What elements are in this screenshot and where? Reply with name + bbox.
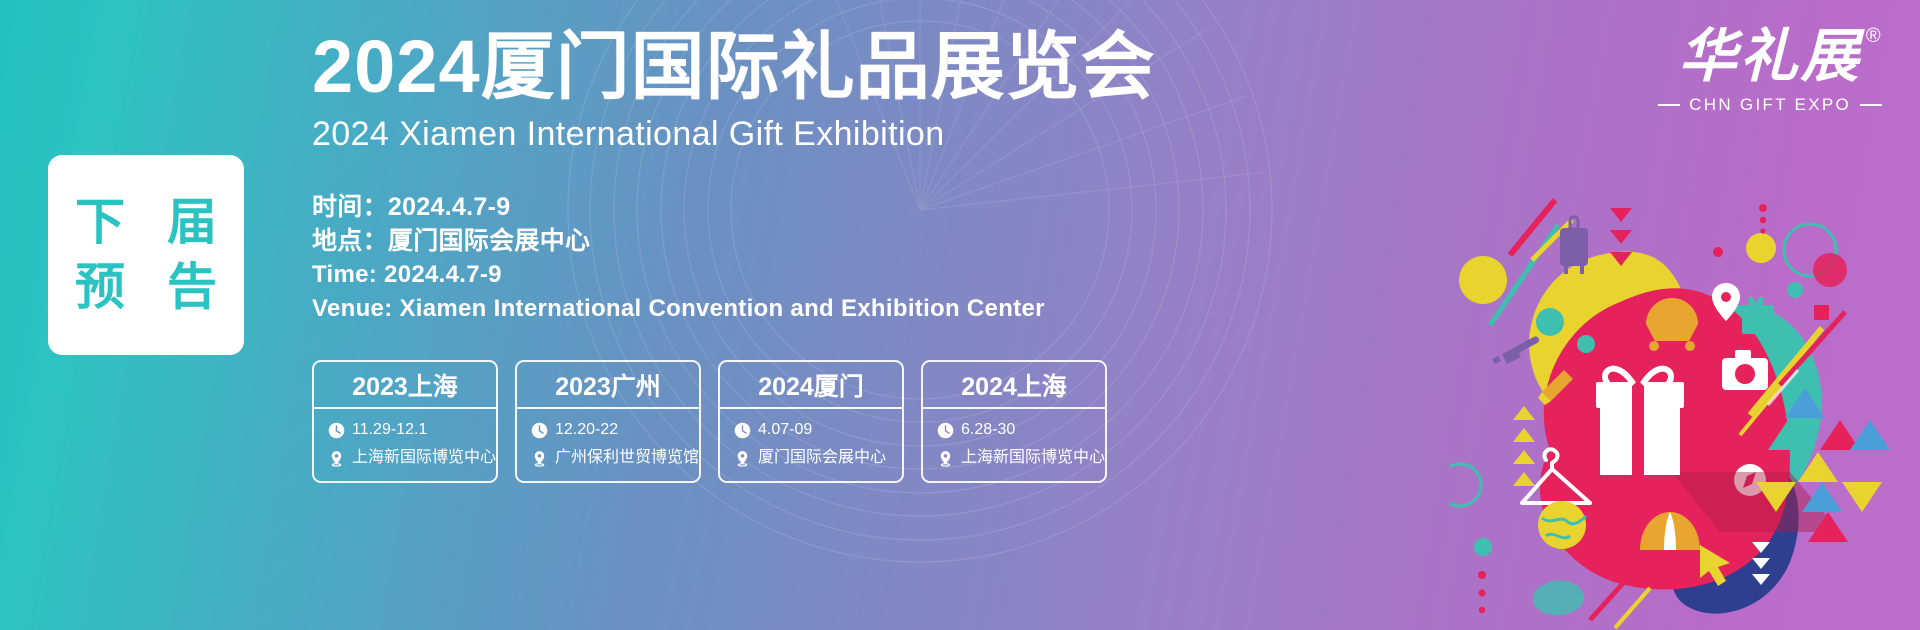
event-card-body: 4.07-09 厦门国际会展中心 (720, 409, 902, 481)
info-venue-en: Venue: Xiamen International Convention a… (312, 292, 1045, 326)
decorative-circle-teal-small-2 (1474, 538, 1492, 556)
next-edition-line-2: 预 告 (61, 258, 231, 317)
event-card-date-row: 12.20-22 (531, 418, 699, 442)
event-card-date: 6.28-30 (961, 418, 1015, 442)
next-edition-line-1: 下 届 (61, 193, 231, 252)
event-card-venue-row: 上海新国际博览中心 (937, 446, 1105, 470)
info-time-en: Time: 2024.4.7-9 (312, 258, 1045, 292)
event-card-venue-row: 广州保利世贸博览馆 (531, 446, 699, 470)
event-card[interactable]: 2024上海 6.28-30 上海新国际博览中心 (921, 360, 1107, 483)
clock-icon (937, 422, 954, 439)
event-card-date-row: 6.28-30 (937, 418, 1105, 442)
info-venue-cn: 地点：厦门国际会展中心 (312, 224, 1045, 258)
event-card-venue-row: 上海新国际博览中心 (328, 446, 496, 470)
map-pin-icon (328, 450, 345, 467)
event-card-title: 2024上海 (923, 362, 1105, 409)
event-card-body: 11.29-12.1 上海新国际博览中心 (314, 409, 496, 481)
registered-trademark-icon: ® (1866, 26, 1884, 46)
decorative-dots-bottom (1478, 571, 1486, 613)
logo-dash-right-icon (1860, 104, 1882, 106)
map-pin-icon (937, 450, 954, 467)
decorative-square-red (1814, 305, 1829, 320)
brand-logo-en: CHN GIFT EXPO (1658, 95, 1882, 115)
page-title-cn: 2024厦门国际礼品展览会 (312, 26, 1312, 109)
brand-logo-cn: 华礼展 ® (1679, 28, 1862, 86)
event-card-title: 2023上海 (314, 362, 496, 409)
logo-dash-left-icon (1658, 104, 1680, 106)
event-card-title: 2024厦门 (720, 362, 902, 409)
event-card-date: 11.29-12.1 (352, 418, 427, 442)
event-card-list: 2023上海 11.29-12.1 上海新国际博览中心 (312, 360, 1107, 483)
arrow-triangles-up-yellow (1513, 406, 1535, 486)
decorative-circle-teal-outline-2 (1450, 464, 1481, 506)
map-pin-icon (531, 450, 548, 467)
decorative-circle-yellow-2 (1746, 233, 1776, 263)
present-icon (1738, 297, 1774, 334)
event-card[interactable]: 2023上海 11.29-12.1 上海新国际博览中心 (312, 360, 498, 483)
brand-logo[interactable]: 华礼展 ® CHN GIFT EXPO (1658, 28, 1882, 115)
decorative-leaf-teal (1533, 580, 1584, 615)
decorative-circle-teal-small (1787, 282, 1803, 298)
page-title-en: 2024 Xiamen International Gift Exhibitio… (312, 115, 1312, 154)
event-card-venue: 上海新国际博览中心 (352, 446, 496, 470)
event-card-date: 4.07-09 (758, 418, 812, 442)
brand-logo-en-text: CHN GIFT EXPO (1689, 95, 1851, 115)
clock-icon (328, 422, 345, 439)
event-card-body: 12.20-22 广州保利世贸博览馆 (517, 409, 699, 481)
title-block: 2024厦门国际礼品展览会 2024 Xiamen International … (312, 26, 1312, 154)
event-card-date: 12.20-22 (555, 418, 618, 442)
event-card-date-row: 11.29-12.1 (328, 418, 496, 442)
event-card-venue-row: 厦门国际会展中心 (734, 446, 902, 470)
decorative-circle-pink (1813, 253, 1847, 287)
map-pin-icon (734, 450, 751, 467)
brand-logo-cn-text: 华礼展 (1679, 24, 1862, 89)
event-card-body: 6.28-30 上海新国际博览中心 (923, 409, 1105, 481)
event-card-date-row: 4.07-09 (734, 418, 902, 442)
clock-icon (734, 422, 751, 439)
dot-teal-art (1536, 308, 1564, 336)
event-card-venue: 厦门国际会展中心 (758, 446, 886, 470)
dot-teal-art-2 (1577, 335, 1595, 353)
clock-icon (531, 422, 548, 439)
globe-icon (1538, 501, 1586, 549)
next-edition-badge: 下 届 预 告 (48, 155, 244, 355)
event-card[interactable]: 2024厦门 4.07-09 厦门国际会展中心 (718, 360, 904, 483)
event-info-block: 时间：2024.4.7-9 地点：厦门国际会展中心 Time: 2024.4.7… (312, 190, 1045, 326)
event-card-venue: 上海新国际博览中心 (961, 446, 1105, 470)
event-card[interactable]: 2023广州 12.20-22 广州保利世贸博览馆 (515, 360, 701, 483)
exhibition-banner: 下 届 预 告 2024厦门国际礼品展览会 2024 Xiamen Intern… (0, 0, 1920, 630)
decorative-circle-yellow (1459, 256, 1507, 304)
info-time-cn: 时间：2024.4.7-9 (312, 190, 1045, 224)
gift-box-illustration (1450, 150, 1920, 630)
event-card-title: 2023广州 (517, 362, 699, 409)
event-card-venue: 广州保利世贸博览馆 (555, 446, 699, 470)
